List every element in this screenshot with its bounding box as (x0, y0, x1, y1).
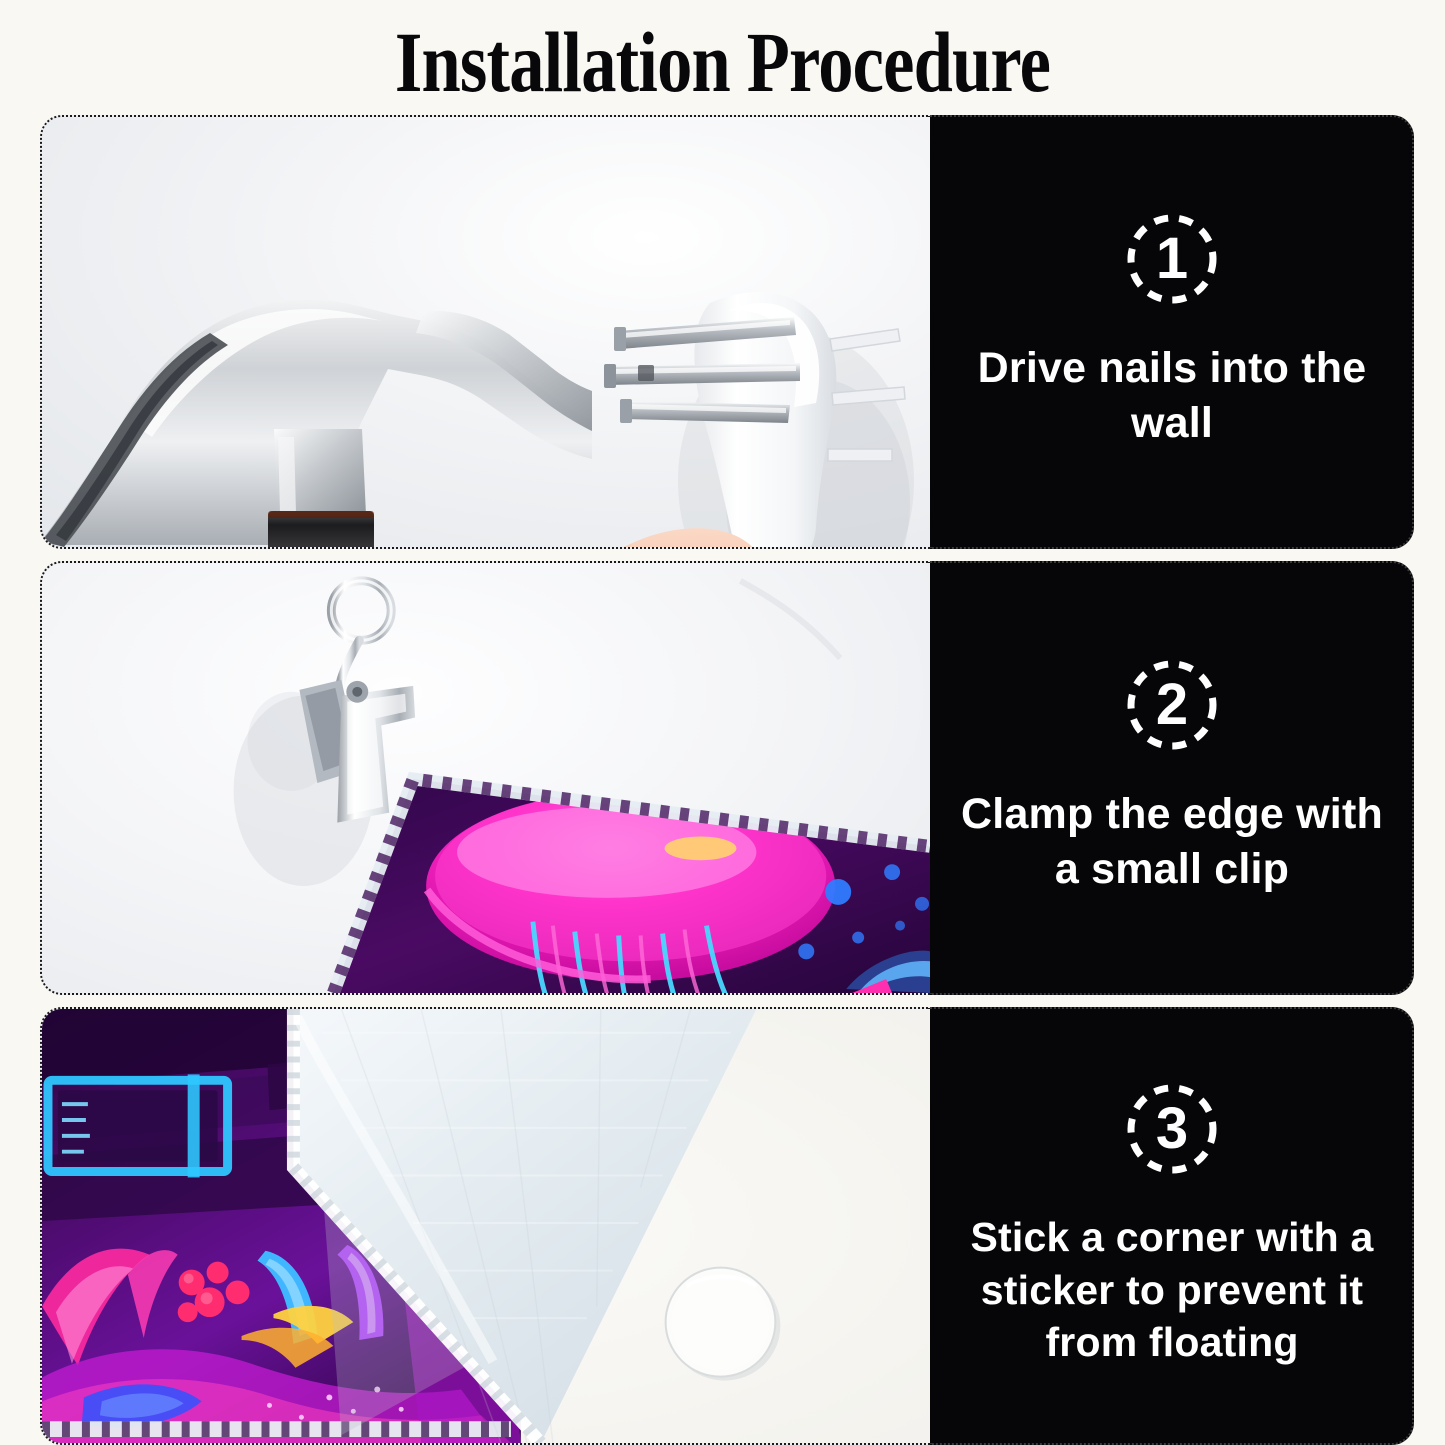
step-row-3: 3 Stick a corner with a sticker to preve… (40, 1007, 1414, 1445)
step-2-photo (40, 561, 930, 995)
clip-and-tapestry-illustration (42, 563, 930, 993)
step-1-number: 1 (1156, 230, 1188, 288)
step-row-2: 2 Clamp the edge with a small clip (40, 561, 1414, 995)
step-1-label: Drive nails into the wall (948, 341, 1396, 451)
step-2-number: 2 (1156, 676, 1188, 734)
claw-hammer-illustration (40, 215, 592, 549)
step-3-photo (40, 1007, 930, 1445)
step-1-badge: 1 (1124, 211, 1220, 307)
step-row-1: 1 Drive nails into the wall (40, 115, 1414, 549)
step-1-text-pane: 1 Drive nails into the wall (930, 115, 1414, 549)
step-3-text-pane: 3 Stick a corner with a sticker to preve… (930, 1007, 1414, 1445)
step-3-label: Stick a corner with a sticker to prevent… (948, 1211, 1396, 1368)
step-2-text-pane: 2 Clamp the edge with a small clip (930, 561, 1414, 995)
step-3-badge: 3 (1124, 1081, 1220, 1177)
page-title: Installation Procedure (130, 14, 1315, 110)
step-3-number: 3 (1156, 1100, 1188, 1158)
step-2-label: Clamp the edge with a small clip (948, 787, 1396, 897)
steps-container: 1 Drive nails into the wall (40, 115, 1414, 1445)
step-2-badge: 2 (1124, 657, 1220, 753)
tapestry-corner-illustration (42, 1009, 930, 1443)
step-1-photo (40, 115, 930, 549)
wall-hook-with-nails-illustration (582, 267, 930, 549)
